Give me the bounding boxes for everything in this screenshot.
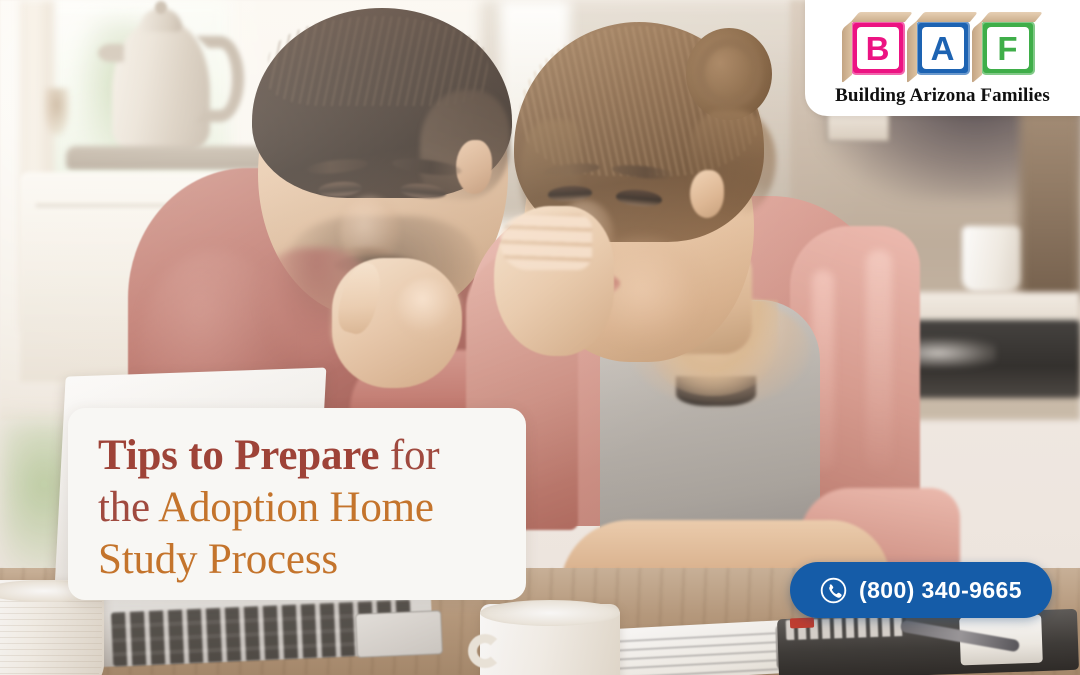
kettle-spout (98, 44, 124, 62)
woman-cardigan-fold (866, 250, 892, 470)
coffee-mug-rim (480, 600, 620, 626)
background-cup (962, 226, 1020, 292)
logo-blocks: B A F (851, 13, 1035, 75)
coffee-mug-handle (468, 634, 502, 668)
phone-number-label: (800) 340-9665 (859, 577, 1022, 604)
man-knuckles (396, 278, 462, 338)
promo-banner: B A F Building Arizona Families Tips to … (0, 0, 1080, 675)
phone-icon (820, 577, 847, 604)
kettle-base (66, 146, 268, 170)
page-title: Tips to Prepare for the Adoption Home St… (98, 430, 500, 586)
headline-line1-bold: Tips to Prepare (98, 432, 379, 479)
logo-block-b: B (851, 21, 905, 75)
phone-cta-button[interactable]: (800) 340-9665 (790, 562, 1052, 618)
logo-block-a: A (916, 21, 970, 75)
kettle-handle (196, 36, 244, 122)
headline-line3-accent: Study Process (98, 536, 338, 583)
logo-wordmark: Building Arizona Families (835, 85, 1050, 107)
logo-letter-f: F (987, 27, 1029, 69)
logo-block-f: F (981, 21, 1035, 75)
woman-hair-bun-detail (696, 38, 762, 108)
logo-letter-a: A (922, 27, 964, 69)
wall-hook (44, 88, 70, 136)
headline-line2-light: the (98, 484, 158, 531)
woman-ear (690, 170, 724, 218)
man-ear (456, 140, 492, 194)
logo-card[interactable]: B A F Building Arizona Families (805, 0, 1080, 116)
kettle-knob (155, 1, 167, 14)
calculator-red-key (790, 618, 814, 629)
coffee-mug-texture (0, 596, 102, 675)
logo-letter-b: B (857, 27, 899, 69)
headline-line2-accent: Adoption Home (158, 484, 434, 531)
laptop-trackpad (355, 610, 443, 658)
woman-fingers (500, 214, 592, 270)
headline-line1-light: for (379, 432, 439, 479)
headline-card: Tips to Prepare for the Adoption Home St… (68, 408, 526, 600)
